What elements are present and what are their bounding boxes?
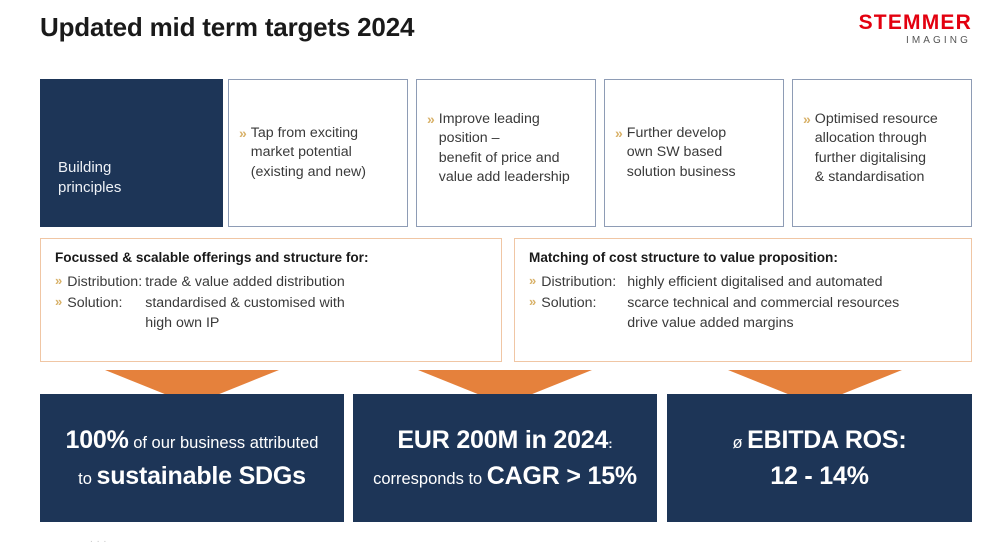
cost-row-solution: » Solution: scarce technical and commerc… bbox=[529, 293, 961, 333]
building-principles-label: Building principles bbox=[58, 158, 121, 226]
kpi-box-ebitda[interactable]: ø EBITDA ROS: 12 - 14% bbox=[667, 394, 972, 522]
principle-bullet-1: » Tap from exciting market potential (ex… bbox=[239, 124, 399, 182]
offerings-value-distribution: trade & value added distribution bbox=[145, 272, 491, 292]
principle-bullet-2: » Improve leading position – benefit of … bbox=[427, 110, 587, 187]
offerings-row-distribution: » Distribution: trade & value added dist… bbox=[55, 272, 491, 292]
chevron-bullet-icon: » bbox=[529, 293, 536, 311]
principle-box-4[interactable]: » Optimised resource allocation through … bbox=[792, 79, 972, 227]
logo-tagline: IMAGING bbox=[859, 36, 972, 46]
logo-wordmark: STEMMER bbox=[859, 12, 972, 33]
principle-box-3[interactable]: » Further develop own SW based solution … bbox=[604, 79, 784, 227]
principle-text-1: Tap from exciting market potential (exis… bbox=[251, 124, 399, 182]
kpi-revenue-colon: : bbox=[608, 436, 612, 451]
chevron-bullet-icon: » bbox=[615, 124, 623, 143]
slide-canvas: Updated mid term targets 2024 STEMMER IM… bbox=[0, 0, 1000, 545]
chevron-bullet-icon: » bbox=[529, 272, 536, 290]
cost-label-solution: Solution: bbox=[541, 293, 627, 313]
chevron-bullet-icon: » bbox=[427, 110, 435, 129]
cost-structure-box[interactable]: Matching of cost structure to value prop… bbox=[514, 238, 972, 362]
cost-label-distribution: Distribution: bbox=[541, 272, 627, 292]
offerings-structure-title: Focussed & scalable offerings and struct… bbox=[55, 250, 491, 265]
offerings-value-solution: standardised & customised with high own … bbox=[145, 293, 491, 333]
principle-bullet-4: » Optimised resource allocation through … bbox=[803, 110, 963, 187]
cost-value-solution: scarce technical and commercial resource… bbox=[627, 293, 961, 333]
kpi-revenue-value: EUR 200M in 2024 bbox=[397, 426, 608, 454]
kpi-revenue-cagr: CAGR > 15% bbox=[487, 462, 637, 490]
offerings-label-distribution: Distribution: bbox=[67, 272, 145, 292]
chevron-bullet-icon: » bbox=[803, 110, 811, 129]
kpi-revenue-line-2: corresponds to CAGR > 15% bbox=[373, 462, 637, 491]
principle-bullet-3: » Further develop own SW based solution … bbox=[615, 124, 775, 182]
cost-structure-title: Matching of cost structure to value prop… bbox=[529, 250, 961, 265]
chevron-bullet-icon: » bbox=[55, 272, 62, 290]
principle-text-2: Improve leading position – benefit of pr… bbox=[439, 110, 587, 187]
principle-box-1[interactable]: » Tap from exciting market potential (ex… bbox=[228, 79, 408, 227]
kpi-ebitda-range: 12 - 14% bbox=[770, 462, 868, 490]
kpi-box-sdg[interactable]: 100% of our business attributed to susta… bbox=[40, 394, 344, 522]
stemmer-imaging-logo: STEMMER IMAGING bbox=[859, 12, 972, 46]
kpi-ebitda-line-1: ø EBITDA ROS: bbox=[732, 426, 906, 455]
kpi-ebitda-line-2: 12 - 14% bbox=[770, 462, 868, 491]
kpi-sdg-line-1: 100% of our business attributed bbox=[65, 426, 318, 455]
kpi-revenue-text-2: corresponds to bbox=[373, 470, 487, 488]
kpi-sdg-text-2: to bbox=[78, 470, 96, 488]
principle-text-4: Optimised resource allocation through fu… bbox=[815, 110, 963, 187]
kpi-ebitda-label: EBITDA ROS: bbox=[747, 426, 906, 454]
chevron-bullet-icon: » bbox=[55, 293, 62, 311]
kpi-box-revenue[interactable]: EUR 200M in 2024: corresponds to CAGR > … bbox=[353, 394, 657, 522]
page-title: Updated mid term targets 2024 bbox=[40, 12, 414, 43]
cost-row-distribution: » Distribution: highly efficient digital… bbox=[529, 272, 961, 292]
kpi-sdg-line-2: to sustainable SDGs bbox=[78, 462, 306, 491]
principle-box-2[interactable]: » Improve leading position – benefit of … bbox=[416, 79, 596, 227]
offerings-structure-box[interactable]: Focussed & scalable offerings and struct… bbox=[40, 238, 502, 362]
offerings-row-solution: » Solution: standardised & customised wi… bbox=[55, 293, 491, 333]
principle-text-3: Further develop own SW based solution bu… bbox=[627, 124, 775, 182]
kpi-sdg-value: 100% bbox=[65, 426, 128, 454]
cost-value-distribution: highly efficient digitalised and automat… bbox=[627, 272, 961, 292]
chevron-bullet-icon: » bbox=[239, 124, 247, 143]
footer-mark: ... bbox=[90, 534, 110, 545]
kpi-sdg-text-1: of our business attributed bbox=[129, 434, 319, 452]
kpi-ebitda-average-symbol: ø bbox=[732, 434, 747, 452]
building-principles-label-box: Building principles bbox=[40, 79, 223, 227]
kpi-sdg-highlight: sustainable SDGs bbox=[96, 462, 305, 490]
kpi-revenue-line-1: EUR 200M in 2024: bbox=[397, 426, 612, 455]
offerings-label-solution: Solution: bbox=[67, 293, 145, 313]
